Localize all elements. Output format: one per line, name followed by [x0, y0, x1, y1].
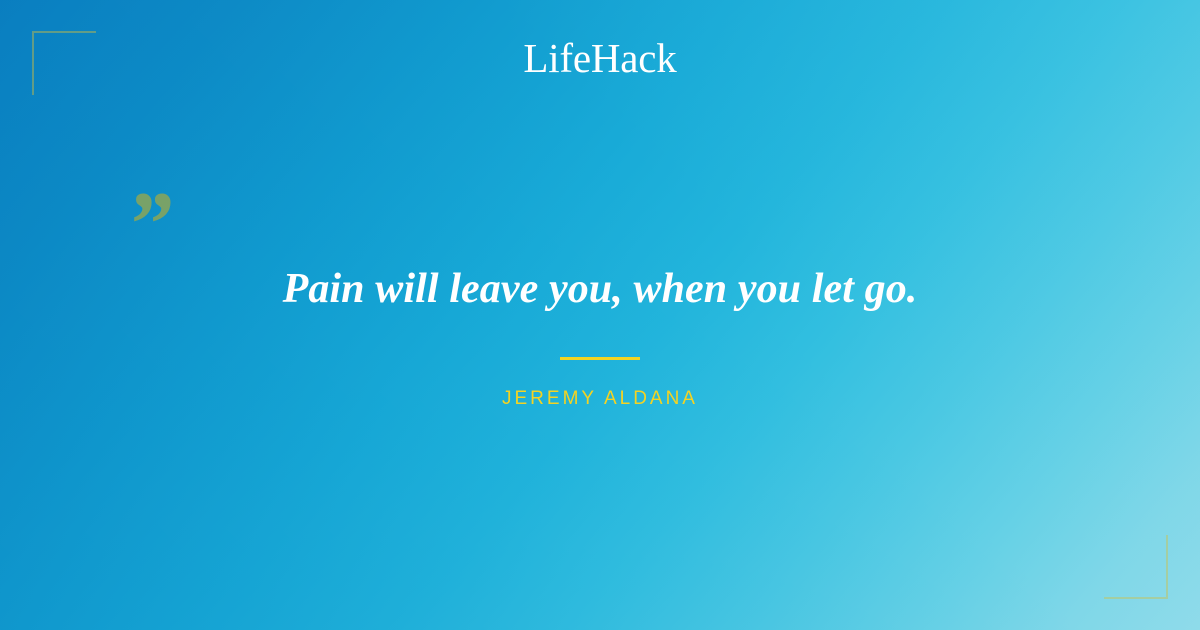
attribution-author-name: JEREMY ALDANA — [502, 389, 698, 408]
quote-block: Pain will leave you, when you let go. — [0, 262, 1200, 317]
corner-bracket-bottom-right-icon — [1104, 535, 1168, 599]
quote-text: Pain will leave you, when you let go. — [120, 262, 1080, 317]
quotation-mark-icon: ” — [126, 178, 172, 270]
brand-logo-text: LifeHack — [523, 38, 676, 79]
brand-logo[interactable]: LifeHack — [0, 38, 1200, 79]
quote-card: LifeHack ” Pain will leave you, when you… — [0, 0, 1200, 630]
card-content-layer: LifeHack ” Pain will leave you, when you… — [0, 0, 1200, 630]
attribution-block: JEREMY ALDANA — [0, 389, 1200, 409]
attribution-divider — [560, 357, 640, 360]
